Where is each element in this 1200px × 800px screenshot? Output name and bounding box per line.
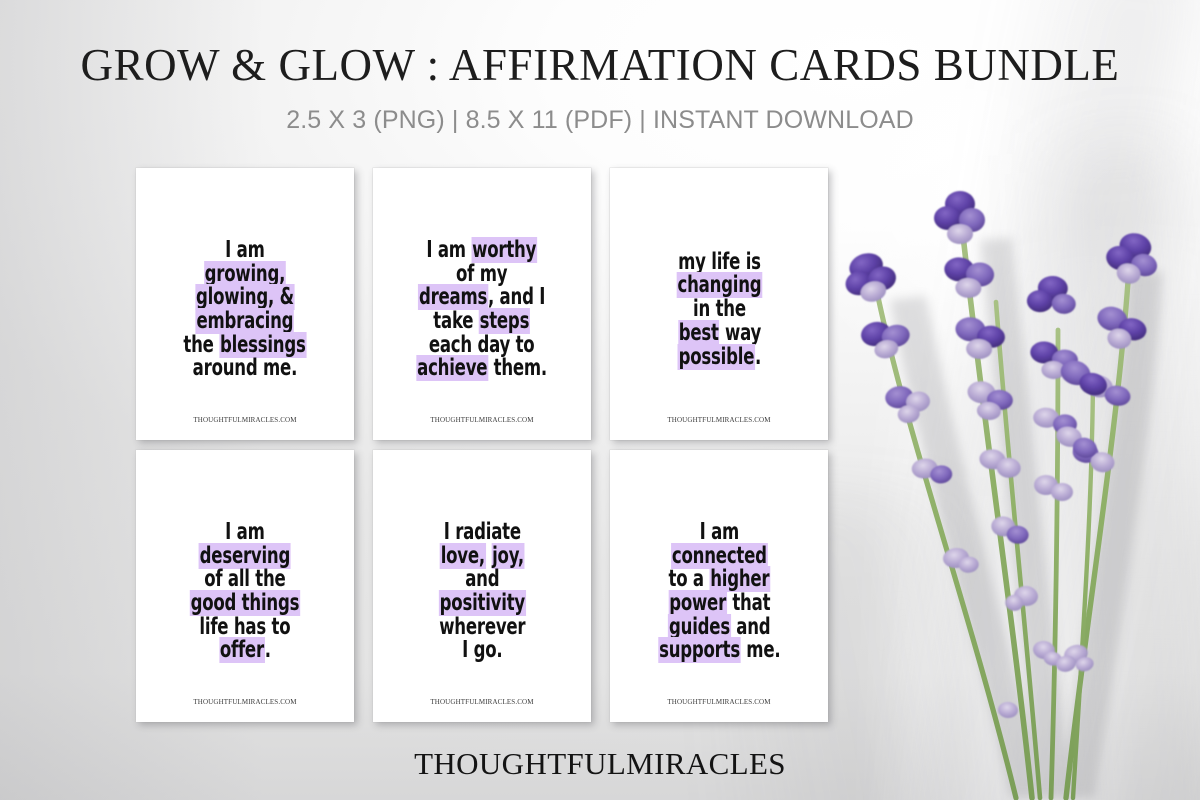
card-quote-line: achieve them.	[417, 357, 548, 381]
plain-word: way	[719, 320, 761, 346]
highlighted-word: best	[677, 320, 719, 346]
highlighted-word: achieve	[417, 355, 489, 381]
card-growing-glowing[interactable]: I amgrowing,glowing, &embracingthe bless…	[136, 168, 354, 440]
card-watermark: THOUGHTFULMIRACLES.COM	[610, 698, 828, 706]
plain-word: and	[465, 566, 499, 592]
highlighted-word: deserving	[199, 543, 291, 569]
card-quote-line: I go.	[439, 639, 526, 663]
plain-word: of all the	[204, 566, 285, 592]
plain-word: .	[755, 344, 761, 370]
card-watermark: THOUGHTFULMIRACLES.COM	[610, 416, 828, 424]
card-quote-line: supports me.	[658, 639, 780, 663]
card-quote-line: glowing, &	[183, 286, 306, 310]
card-radiate-love-joy[interactable]: I radiatelove, joy,andpositivitywherever…	[373, 450, 591, 722]
card-quote-text: I radiatelove, joy,andpositivitywherever…	[439, 521, 526, 663]
card-quote-line: dreams, and I	[417, 286, 548, 310]
highlighted-word: offer	[219, 637, 265, 663]
plain-word	[485, 543, 491, 569]
card-quote-line: offer.	[190, 639, 300, 663]
plain-word: wherever	[439, 614, 525, 640]
plain-word: that	[726, 590, 769, 616]
highlighted-word: growing,	[204, 261, 286, 287]
card-watermark: THOUGHTFULMIRACLES.COM	[373, 416, 591, 424]
plain-word: in the	[693, 296, 746, 322]
card-quote-line: my life is	[676, 251, 762, 275]
card-quote-line: take steps	[417, 310, 548, 334]
plain-word: .	[265, 637, 271, 663]
card-quote-line: deserving	[190, 545, 300, 569]
card-quote-text: my life ischangingin thebest waypossible…	[676, 251, 762, 369]
card-quote-line: power that	[658, 592, 780, 616]
card-watermark: THOUGHTFULMIRACLES.COM	[373, 698, 591, 706]
card-quote-line: each day to	[417, 334, 548, 358]
card-connected-higher-power[interactable]: I amconnectedto a higherpower thatguides…	[610, 450, 828, 722]
plain-word: of my	[456, 261, 507, 287]
highlighted-word: higher	[709, 566, 770, 592]
card-quote-text: I am worthyof mydreams, and Itake stepse…	[417, 239, 548, 381]
plain-word: I am	[225, 237, 264, 263]
card-quote-line: I am	[190, 521, 300, 545]
card-quote-line: I am	[658, 521, 780, 545]
page-title: GROW & GLOW : AFFIRMATION CARDS BUNDLE	[0, 42, 1200, 89]
lavender-sprigs-image	[830, 180, 1200, 800]
card-quote-line: guides and	[658, 616, 780, 640]
card-quote-line: good things	[190, 592, 300, 616]
card-quote-line: I am worthy	[417, 239, 548, 263]
highlighted-word: joy,	[491, 543, 524, 569]
plain-word: each day to	[429, 332, 535, 358]
card-quote-line: best way	[676, 322, 762, 346]
plain-word: I am	[699, 519, 738, 545]
card-quote-text: I amconnectedto a higherpower thatguides…	[658, 521, 780, 663]
plain-word: and	[730, 614, 770, 640]
plain-word: I am	[225, 519, 264, 545]
plain-word: the	[183, 332, 219, 358]
card-quote-line: possible.	[676, 346, 762, 370]
plain-word: them.	[488, 355, 547, 381]
lavender-sprig-lower-right	[1052, 357, 1111, 460]
plain-word: to a	[668, 566, 709, 592]
plain-word: I am	[427, 237, 472, 263]
highlighted-word: love,	[440, 543, 486, 569]
highlighted-word: supports	[658, 637, 741, 663]
highlighted-word: embracing	[196, 308, 294, 334]
card-quote-line: in the	[676, 298, 762, 322]
card-quote-line: positivity	[439, 592, 526, 616]
highlighted-word: power	[668, 590, 726, 616]
card-life-changing[interactable]: my life ischangingin thebest waypossible…	[610, 168, 828, 440]
card-quote-line: I am	[183, 239, 306, 263]
card-quote-line: life has to	[190, 616, 300, 640]
plain-word: my life is	[678, 249, 761, 275]
highlighted-word: glowing, &	[195, 284, 294, 310]
card-quote-line: growing,	[183, 263, 306, 287]
highlighted-word: dreams	[418, 284, 488, 310]
card-watermark: THOUGHTFULMIRACLES.COM	[136, 416, 354, 424]
plain-word: I radiate	[443, 519, 520, 545]
highlighted-word: good things	[190, 590, 300, 616]
card-quote-line: changing	[676, 274, 762, 298]
card-worthy-dreams[interactable]: I am worthyof mydreams, and Itake stepse…	[373, 168, 591, 440]
card-quote-line: I radiate	[439, 521, 526, 545]
plain-word: take	[434, 308, 479, 334]
card-quote-text: I amdeservingof all thegood thingslife h…	[190, 521, 300, 663]
card-quote-line: the blessings	[183, 334, 306, 358]
affirmation-card-grid: I amgrowing,glowing, &embracingthe bless…	[136, 168, 846, 722]
card-quote-line: embracing	[183, 310, 306, 334]
plain-word: me.	[740, 637, 780, 663]
card-quote-text: I amgrowing,glowing, &embracingthe bless…	[183, 239, 306, 381]
highlighted-word: connected	[671, 543, 767, 569]
highlighted-word: steps	[479, 308, 530, 334]
card-quote-line: around me.	[183, 357, 306, 381]
card-quote-line: of my	[417, 263, 548, 287]
card-quote-line: to a higher	[658, 568, 780, 592]
highlighted-word: positivity	[439, 590, 526, 616]
header: GROW & GLOW : AFFIRMATION CARDS BUNDLE 2…	[0, 42, 1200, 135]
card-quote-line: connected	[658, 545, 780, 569]
brand-name: THOUGHTFULMIRACLES	[0, 746, 1200, 782]
plain-word: life has to	[200, 614, 291, 640]
plain-word: around me.	[193, 355, 297, 381]
plain-word: , and I	[488, 284, 545, 310]
card-quote-line: love, joy,	[439, 545, 526, 569]
card-deserving-good-things[interactable]: I amdeservingof all thegood thingslife h…	[136, 450, 354, 722]
card-watermark: THOUGHTFULMIRACLES.COM	[136, 698, 354, 706]
plain-word: I go.	[462, 637, 502, 663]
card-quote-line: wherever	[439, 616, 526, 640]
highlighted-word: blessings	[219, 332, 306, 358]
page-subtitle: 2.5 X 3 (PNG) | 8.5 X 11 (PDF) | INSTANT…	[0, 106, 1200, 135]
highlighted-word: guides	[668, 614, 731, 640]
highlighted-word: changing	[676, 272, 762, 298]
highlighted-word: worthy	[472, 237, 538, 263]
card-quote-line: of all the	[190, 568, 300, 592]
highlighted-word: possible	[677, 344, 754, 370]
card-quote-line: and	[439, 568, 526, 592]
